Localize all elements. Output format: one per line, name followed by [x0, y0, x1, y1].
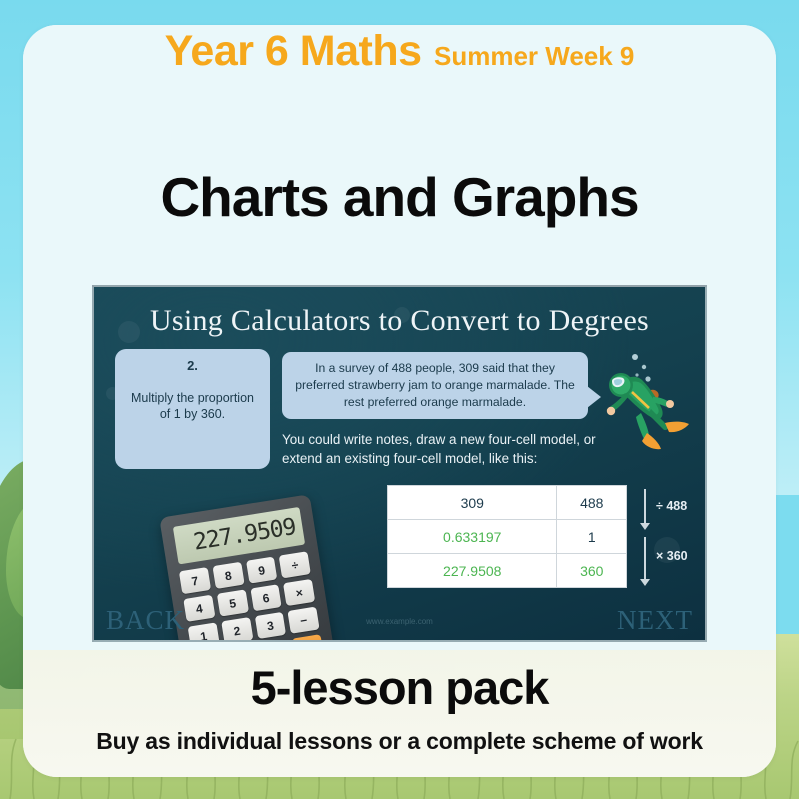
table-row: 0.6331971 — [388, 520, 627, 554]
calculator-key: = — [259, 639, 291, 642]
four-cell-model-table: 3094880.6331971227.9508360 — [387, 485, 627, 588]
slide-next-button[interactable]: NEXT — [617, 605, 693, 636]
slide-title: Using Calculators to Convert to Degrees — [94, 304, 705, 338]
survey-speech-bubble: In a survey of 488 people, 309 said that… — [282, 352, 588, 419]
arrow-label-multiply: × 360 — [656, 549, 688, 563]
table-cell: 309 — [388, 486, 557, 520]
lead-text: You could write notes, draw a new four-c… — [282, 430, 634, 468]
calculator-key: 6 — [250, 584, 282, 611]
table-cell: 488 — [557, 486, 627, 520]
arrow-head — [640, 579, 650, 586]
table-cell: 360 — [557, 554, 627, 588]
calculator-key: 9 — [246, 556, 278, 583]
calculator-key: 7 — [179, 567, 211, 594]
calculator-key: + — [292, 634, 324, 642]
page-title: Charts and Graphs — [0, 165, 799, 229]
pack-subtitle: Buy as individual lessons or a complete … — [0, 728, 799, 755]
arrow-label-divide: ÷ 488 — [656, 499, 687, 513]
slide-preview[interactable]: Using Calculators to Convert to Degrees … — [92, 285, 707, 642]
arrow-shaft — [644, 489, 646, 525]
table-cell: 0.633197 — [388, 520, 557, 554]
table-row: 309488 — [388, 486, 627, 520]
arrow-head — [640, 523, 650, 530]
table-cell: 227.9508 — [388, 554, 557, 588]
pack-title: 5-lesson pack — [0, 660, 799, 715]
calculator-key: ÷ — [279, 551, 311, 578]
step-box: 2. Multiply the proportion of 1 by 360. — [115, 349, 270, 469]
arrow-shaft — [644, 537, 646, 581]
calculator-key: × — [283, 579, 315, 606]
header: Year 6 Maths Summer Week 9 — [0, 27, 799, 76]
slide-watermark: www.example.com — [94, 617, 705, 626]
calculator-key: 5 — [217, 589, 249, 616]
step-number: 2. — [115, 358, 270, 373]
slide-back-button[interactable]: BACK — [106, 605, 185, 636]
table-cell: 1 — [557, 520, 627, 554]
calculator-key: 8 — [212, 562, 244, 589]
header-subject: Year 6 Maths — [165, 27, 422, 75]
header-week: Summer Week 9 — [434, 41, 634, 71]
table-row: 227.9508360 — [388, 554, 627, 588]
step-text: Multiply the proportion of 1 by 360. — [115, 391, 270, 422]
conversion-arrows: ÷ 488 × 360 — [640, 487, 707, 591]
four-cell-model-body: 3094880.6331971227.9508360 — [388, 486, 627, 588]
